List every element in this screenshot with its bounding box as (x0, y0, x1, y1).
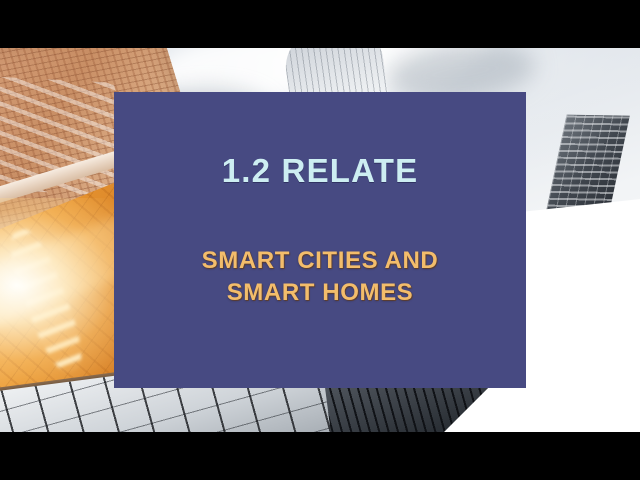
slide-subtitle-line-2: SMART HOMES (202, 277, 439, 309)
video-player-stage: 1.2 RELATE SMART CITIES AND SMART HOMES (0, 0, 640, 480)
presentation-slide: 1.2 RELATE SMART CITIES AND SMART HOMES (0, 48, 640, 432)
slide-content-panel: 1.2 RELATE SMART CITIES AND SMART HOMES (114, 92, 526, 388)
slide-subtitle-line-1: SMART CITIES AND (202, 245, 439, 277)
letterbox-bar-top (0, 0, 640, 48)
letterbox-bar-bottom (0, 432, 640, 480)
slide-title: 1.2 RELATE (222, 154, 419, 187)
slide-subtitle: SMART CITIES AND SMART HOMES (202, 245, 439, 308)
